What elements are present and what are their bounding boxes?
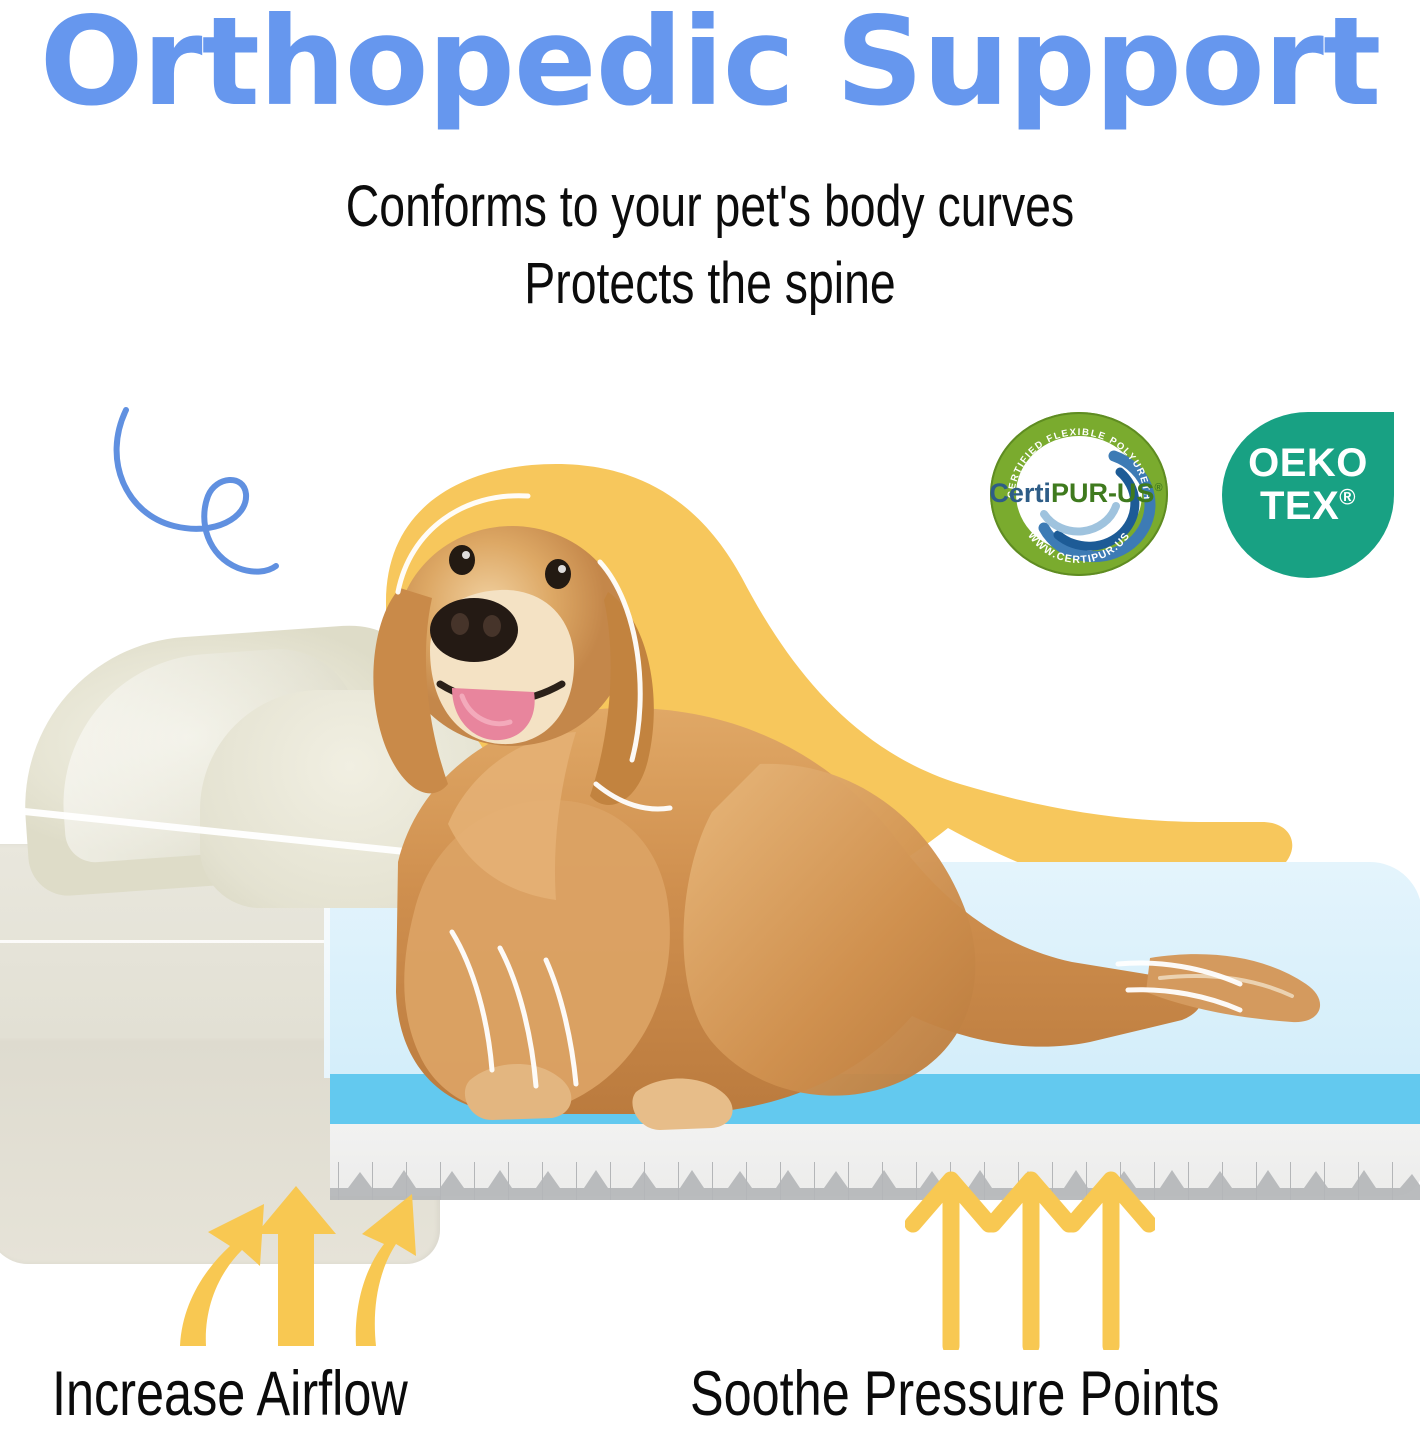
subtitle-line-2: Protects the spine: [142, 245, 1278, 322]
pressure-relief-arrows: [905, 1150, 1155, 1350]
airflow-arrows: [160, 1150, 430, 1350]
subtitle-block: Conforms to your pet's body curves Prote…: [142, 168, 1278, 322]
caption-increase-airflow: Increase Airflow: [52, 1358, 408, 1430]
caption-soothe-pressure-points: Soothe Pressure Points: [690, 1358, 1220, 1430]
page-title: Orthopedic Support: [0, 0, 1420, 126]
subtitle-line-1: Conforms to your pet's body curves: [142, 168, 1278, 245]
